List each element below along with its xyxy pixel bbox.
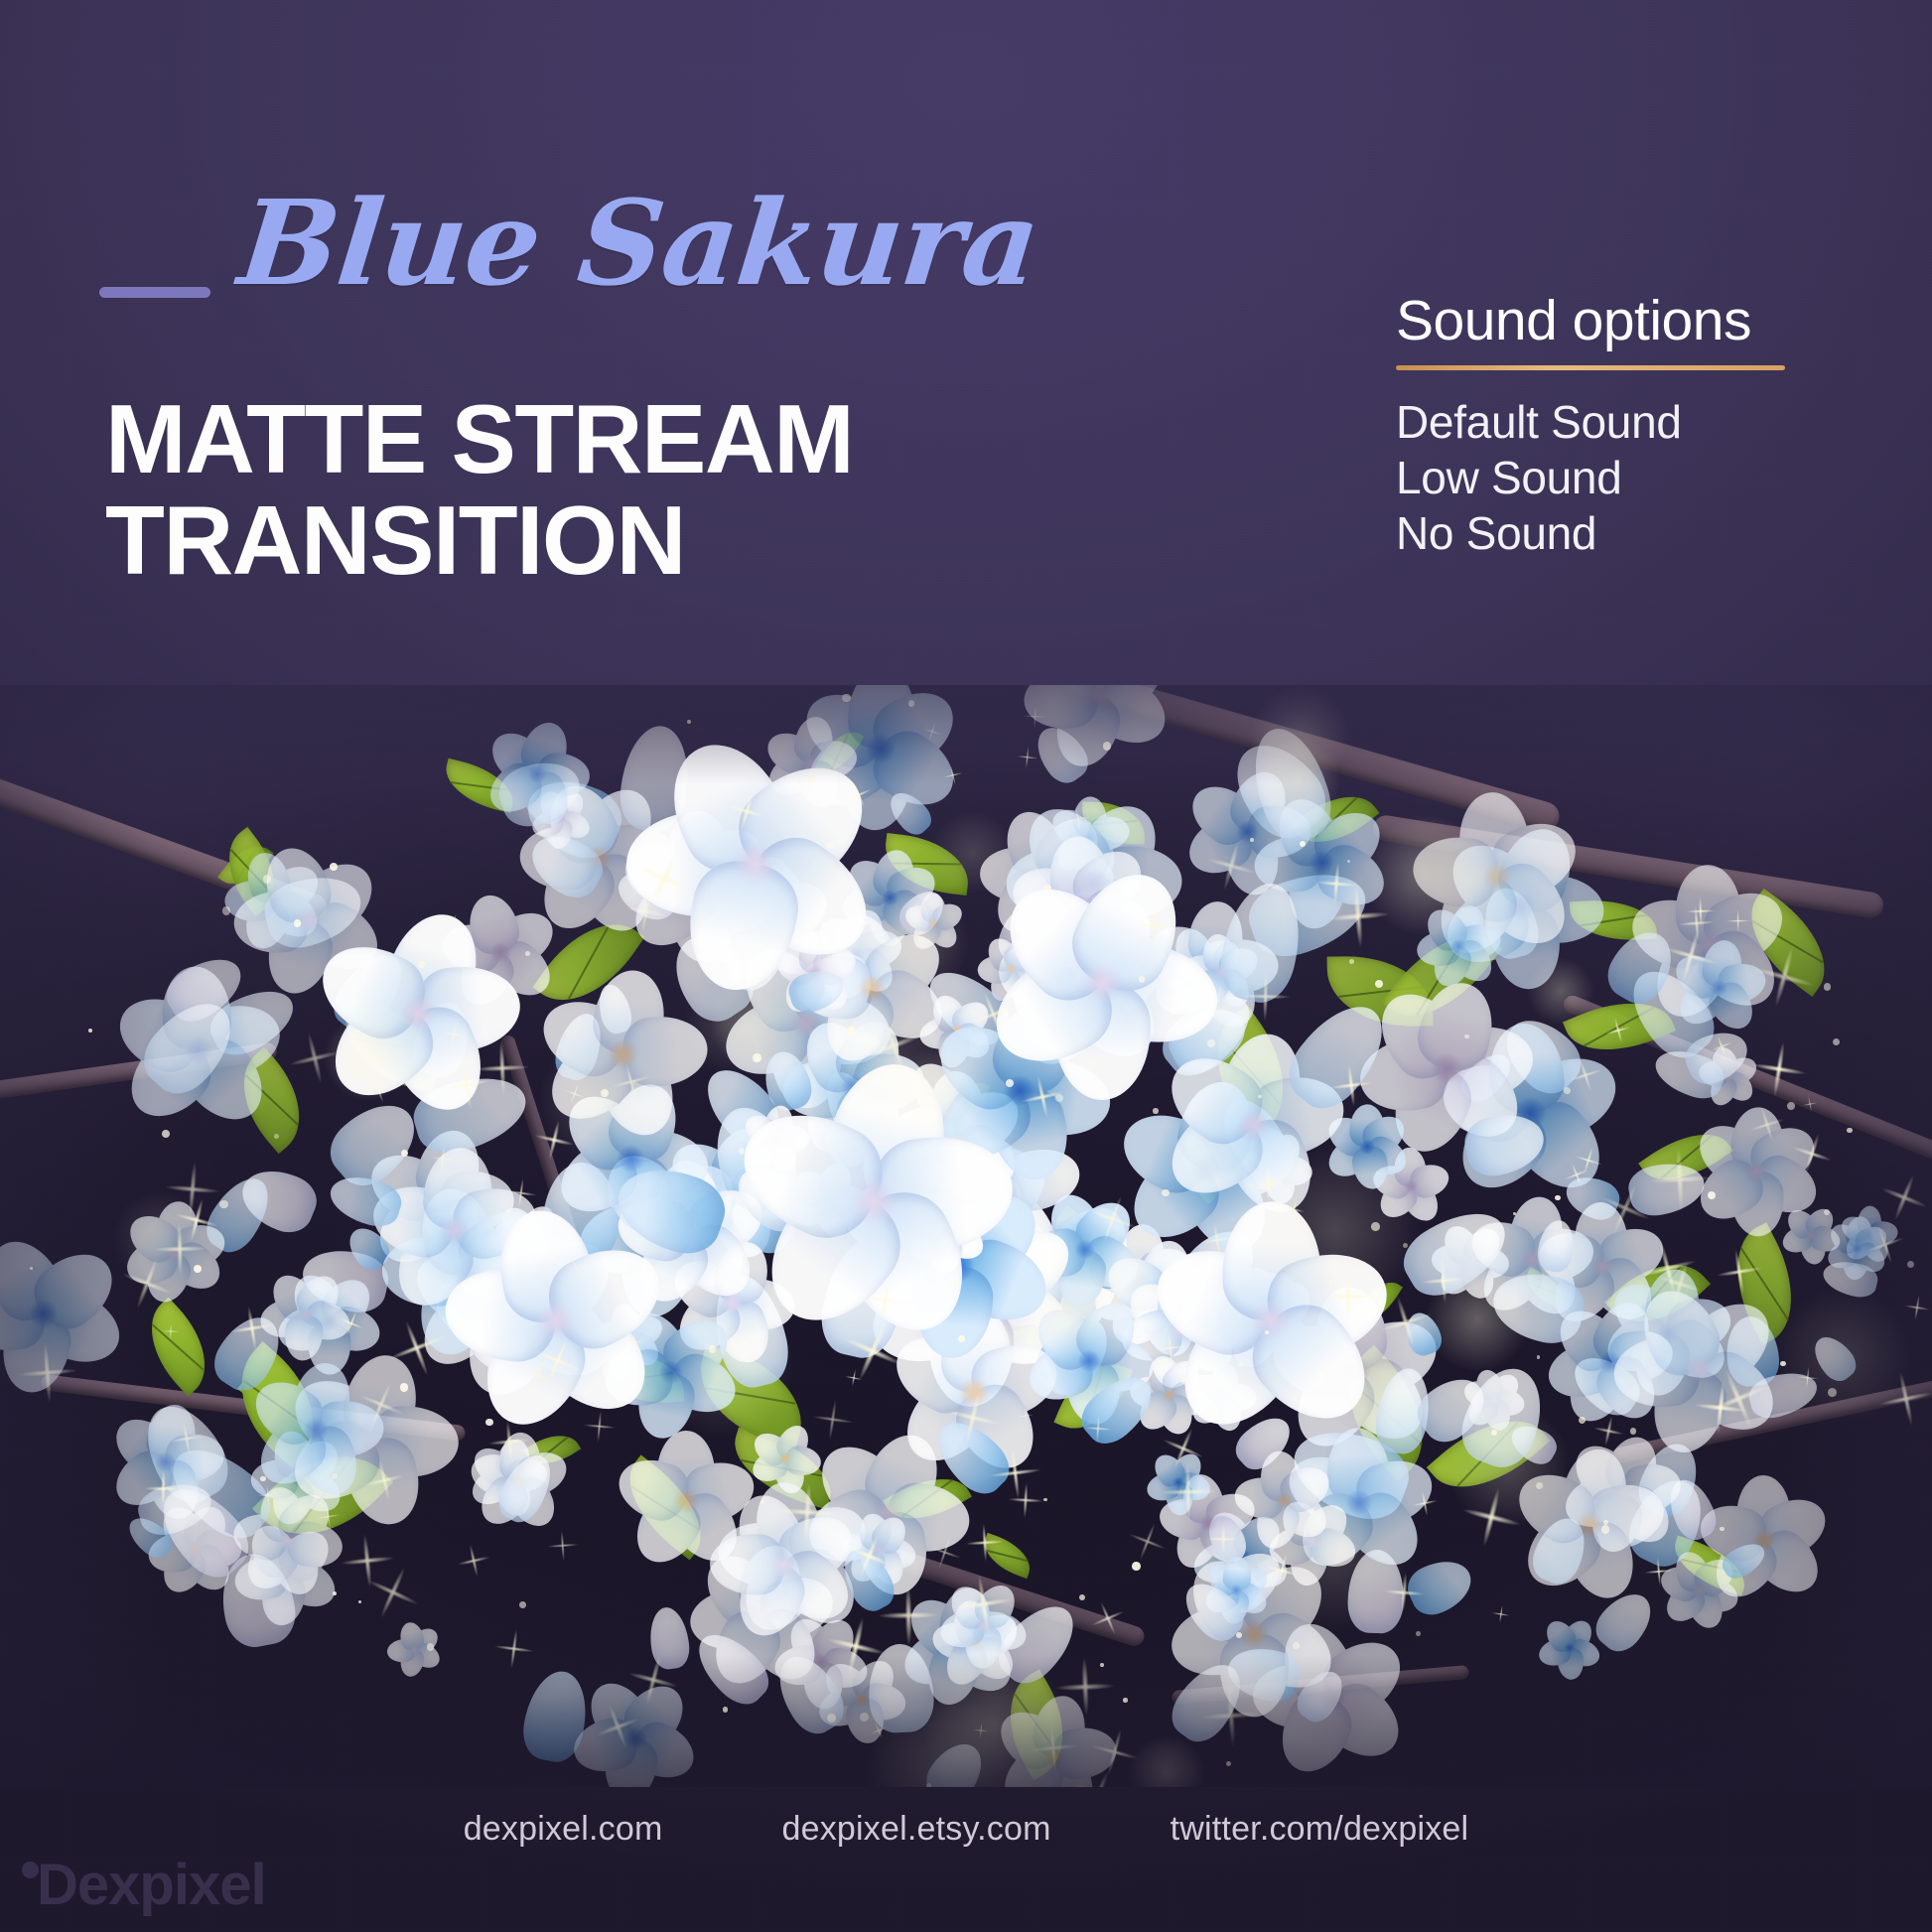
sparkle-icon [922, 1530, 967, 1575]
sparkle-icon [1801, 1095, 1820, 1114]
dexpixel-watermark: Dexpixel [22, 1852, 266, 1918]
sparkle-icon [1121, 1515, 1174, 1569]
sound-option-none[interactable]: No Sound [1396, 505, 1785, 561]
sparkle-icon [1382, 1571, 1426, 1614]
sparkle-dot [1139, 976, 1146, 983]
sparkle-dot [1162, 1189, 1170, 1197]
sparkle-icon [1873, 1365, 1932, 1431]
sparkle-dot [827, 842, 834, 849]
sparkle-dot [1250, 838, 1255, 843]
sparkle-icon [868, 1719, 892, 1742]
sparkle-dot [908, 700, 914, 706]
sparkle-icon [1207, 1523, 1239, 1555]
sound-options-list: Default Sound Low Sound No Sound [1396, 394, 1785, 561]
sparkle-dot [926, 1783, 931, 1787]
sparkle-dot [958, 1335, 965, 1342]
sparkle-dot [960, 1192, 964, 1196]
sparkle-dot [1564, 1087, 1571, 1094]
sparkle-dot [1824, 983, 1832, 991]
sparkle-icon [940, 1384, 1008, 1451]
sparkle-icon [359, 1455, 409, 1505]
sparkle-glow [655, 1299, 794, 1438]
sparkle-layer [0, 685, 1932, 1787]
sparkle-dot [485, 1419, 493, 1427]
sparkle-glow [1431, 837, 1514, 920]
sparkle-icon [1026, 1722, 1079, 1775]
page-title-line-2: TRANSITION [105, 490, 853, 592]
sparkle-icon [1725, 908, 1751, 934]
sparkle-icon [161, 1322, 180, 1341]
sparkle-dot [1349, 959, 1354, 964]
sparkle-dot [1833, 1038, 1840, 1045]
sparkle-icon [1747, 1037, 1811, 1101]
script-title-row: Blue Sakura [99, 184, 1037, 303]
sparkle-dot [687, 720, 691, 724]
sound-options-heading: Sound options [1396, 292, 1785, 351]
sparkle-icon [1084, 1595, 1131, 1642]
sparkle-icon [964, 1522, 1006, 1564]
sparkle-icon [1744, 938, 1822, 1016]
watermark-label: Dexpixel [37, 1852, 266, 1918]
sparkle-icon [334, 1305, 369, 1340]
sparkle-icon [1200, 835, 1262, 897]
sparkle-dot [1371, 1222, 1379, 1230]
page-title: MATTE STREAM TRANSITION [105, 389, 853, 592]
sparkle-glow [682, 977, 778, 1073]
sound-options-panel: Sound options Default Sound Low Sound No… [1396, 292, 1785, 561]
sparkle-dot [1153, 1108, 1158, 1113]
sparkle-icon [1643, 1555, 1676, 1587]
sparkle-icon [530, 1116, 579, 1165]
sparkle-dot [601, 1089, 609, 1097]
sparkle-dot [1555, 1195, 1561, 1201]
sparkle-dot [222, 906, 231, 915]
sparkle-icon [581, 1408, 617, 1444]
sparkle-dot [1464, 1035, 1468, 1038]
sparkle-icon [1023, 703, 1048, 729]
sparkle-icon [503, 1175, 539, 1211]
sparkle-icon [1454, 1481, 1527, 1554]
sound-options-divider [1396, 365, 1785, 370]
sparkle-icon [939, 761, 965, 787]
sparkle-icon [486, 1419, 533, 1465]
sparkle-dot [1347, 860, 1350, 863]
footer-link-etsy[interactable]: dexpixel.etsy.com [782, 1810, 1051, 1849]
sparkle-dot [1123, 1698, 1128, 1703]
sparkle-dot [1536, 1482, 1543, 1489]
sparkle-dot [1055, 1094, 1063, 1102]
sparkle-icon [1134, 905, 1174, 946]
sparkle-dot [1181, 1377, 1188, 1384]
sparkle-icon [948, 1570, 1018, 1639]
sparkle-icon [1250, 1166, 1288, 1203]
sparkle-icon [1743, 1101, 1790, 1148]
sparkle-glow [864, 891, 969, 996]
sparkle-icon [1714, 1246, 1766, 1299]
sparkle-dot [332, 1473, 338, 1479]
sparkle-icon [315, 1502, 344, 1531]
sparkle-dot [330, 863, 338, 871]
sparkle-icon [809, 1397, 856, 1444]
sparkle-icon [1692, 1378, 1751, 1438]
sparkle-icon [453, 1541, 492, 1581]
sparkle-icon [437, 1018, 471, 1051]
sparkle-icon [15, 1339, 80, 1405]
sparkle-dot [1236, 1632, 1242, 1638]
sparkle-icon [1196, 1220, 1238, 1262]
sparkle-dot [162, 1130, 170, 1138]
sparkle-icon [563, 1254, 589, 1280]
sparkle-icon [1786, 1127, 1839, 1179]
sparkle-dot [860, 1713, 869, 1722]
sparkle-dot [1780, 1361, 1786, 1367]
sparkle-icon [1015, 1406, 1035, 1426]
sparkle-icon [961, 981, 1028, 1047]
sparkle-icon [442, 910, 464, 932]
sparkle-icon [429, 1145, 459, 1174]
sparkle-icon [392, 1251, 409, 1268]
sparkle-dot [753, 1053, 760, 1061]
sparkle-icon [1260, 1549, 1305, 1593]
sparkle-icon [722, 786, 771, 836]
sparkle-glow [1527, 957, 1594, 1025]
sparkle-icon [1062, 802, 1095, 835]
sparkle-icon [1054, 1656, 1117, 1719]
sparkle-dot [1847, 1128, 1852, 1133]
sparkle-dot [1579, 1417, 1586, 1424]
sparkle-icon [588, 1697, 648, 1757]
sparkle-dot [1300, 841, 1306, 847]
sparkle-icon [838, 1525, 898, 1586]
sparkle-icon [1015, 745, 1040, 770]
sparkle-dot [427, 1643, 435, 1651]
sparkle-dot [525, 951, 530, 956]
sparkle-dot [1537, 1355, 1541, 1359]
sparkle-dot [418, 961, 425, 968]
poster-canvas: Blue Sakura MATTE STREAM TRANSITION Soun… [0, 0, 1932, 1932]
sound-option-low[interactable]: Low Sound [1396, 450, 1785, 505]
sparkle-icon [820, 1610, 892, 1682]
sparkle-glow [1256, 737, 1341, 822]
sparkle-dot [760, 1500, 764, 1504]
sparkle-icon [1677, 903, 1717, 943]
sparkle-icon [1859, 1219, 1911, 1272]
sakura-artwork [0, 685, 1932, 1787]
sparkle-dot [274, 1134, 279, 1139]
sparkle-dot [260, 1476, 266, 1482]
sparkle-dot [1708, 1191, 1716, 1199]
sparkle-dot [88, 1029, 92, 1033]
sparkle-dot [1416, 1631, 1420, 1635]
sparkle-icon [560, 1078, 590, 1108]
sparkle-icon [1795, 1365, 1821, 1391]
sparkle-dot [806, 774, 815, 783]
sparkle-glow [930, 811, 1014, 895]
sparkle-icon [1871, 1165, 1932, 1229]
sparkle-glow [1026, 1281, 1104, 1359]
sparkle-dot [848, 1027, 856, 1035]
sparkle-dot [1103, 742, 1111, 750]
sparkle-icon [777, 1481, 839, 1543]
sparkle-dot [1043, 885, 1051, 893]
sparkle-dot [1207, 1039, 1215, 1047]
sparkle-icon [1325, 884, 1392, 950]
sparkle-dot [709, 1345, 716, 1352]
sparkle-dot [723, 1707, 729, 1713]
sparkle-icon [919, 719, 945, 745]
sparkle-dot [1601, 1525, 1610, 1534]
sparkle-dot [1787, 1102, 1795, 1110]
script-title: Blue Sakura [234, 184, 1044, 303]
sparkle-dot [1132, 1562, 1141, 1571]
sparkle-dot [1043, 1498, 1047, 1502]
sparkle-dot [1258, 1095, 1262, 1099]
sparkle-icon [605, 1055, 657, 1108]
sparkle-icon [437, 1055, 495, 1114]
sparkle-icon [1590, 1414, 1626, 1449]
sparkle-icon [971, 1721, 990, 1739]
sparkle-dot [1491, 1430, 1497, 1436]
sparkle-dot [1088, 1061, 1096, 1069]
sparkle-dot [1100, 1663, 1104, 1667]
sparkle-icon [1083, 1414, 1113, 1444]
sparkle-dot [1226, 1761, 1231, 1766]
sparkle-icon [226, 1302, 279, 1354]
page-title-line-1: MATTE STREAM [105, 389, 853, 490]
sparkle-dot [1907, 1261, 1914, 1268]
sparkle-dot [1328, 1281, 1332, 1285]
sparkle-icon [945, 1274, 966, 1295]
sparkle-dot [1403, 1243, 1408, 1248]
sparkle-dot [842, 694, 850, 702]
sparkle-dot [1828, 1388, 1837, 1397]
sparkle-dot [1293, 1642, 1300, 1649]
sparkle-icon [621, 1329, 645, 1353]
sparkle-dot [333, 1591, 337, 1595]
sparkle-dot [219, 1200, 228, 1209]
sparkle-icon [1319, 1268, 1376, 1324]
sparkle-icon [546, 1529, 580, 1563]
sparkle-dot [739, 1148, 745, 1154]
sparkle-icon [1706, 1032, 1736, 1062]
sparkle-icon [1081, 1187, 1145, 1251]
sparkle-dot [1603, 1520, 1608, 1525]
sparkle-dot [1079, 1594, 1085, 1600]
sparkle-dot [1006, 1079, 1014, 1087]
sparkle-icon [855, 1008, 931, 1084]
sparkle-icon [1902, 1293, 1931, 1321]
sparkle-dot [401, 1150, 408, 1157]
sparkle-dot [1513, 1212, 1516, 1215]
sparkle-glow [1250, 686, 1350, 786]
sparkle-dot [194, 1265, 202, 1273]
sparkle-icon [1154, 1331, 1188, 1366]
sparkle-glow [865, 1695, 1025, 1787]
sparkle-icon [145, 1470, 182, 1507]
sparkle-dot [1108, 1070, 1114, 1076]
sparkle-dot [1630, 1428, 1637, 1435]
sparkle-icon [1008, 1481, 1045, 1519]
sparkle-icon [839, 776, 878, 815]
footer-links: dexpixel.com dexpixel.etsy.com twitter.c… [0, 1810, 1932, 1849]
sparkle-icon [1328, 1061, 1375, 1108]
sparkle-glow [710, 969, 814, 1073]
sparkle-dot [827, 1714, 836, 1723]
sparkle-icon [256, 1483, 279, 1506]
footer-link-website[interactable]: dexpixel.com [464, 1810, 663, 1849]
sparkle-icon [621, 886, 671, 936]
sparkle-icon [1601, 1014, 1635, 1047]
sparkle-icon [338, 1531, 397, 1590]
sparkle-icon [378, 1310, 455, 1386]
sparkle-icon [1240, 970, 1293, 1023]
sparkle-icon [894, 1782, 941, 1787]
sparkle-icon [1198, 1683, 1264, 1748]
sparkle-icon [167, 1420, 207, 1459]
sparkle-icon [1409, 1487, 1441, 1519]
sparkle-icon [282, 1027, 346, 1091]
sparkle-dot [30, 1267, 33, 1270]
sparkle-icon [1490, 1602, 1512, 1624]
sparkle-icon [491, 1625, 537, 1671]
sound-option-default[interactable]: Default Sound [1396, 394, 1785, 450]
sparkle-dot [1265, 1330, 1269, 1334]
sparkle-dot [1238, 1362, 1243, 1367]
sparkle-dot [1720, 1527, 1725, 1532]
sparkle-dot [1824, 1209, 1830, 1215]
sparkle-dot [1375, 980, 1383, 988]
sparkle-dot [294, 919, 302, 927]
accent-dash [99, 287, 210, 298]
sparkle-icon [1281, 1196, 1308, 1223]
sparkle-dot [263, 875, 271, 883]
sparkle-dot [519, 1601, 526, 1608]
footer-link-twitter[interactable]: twitter.com/dexpixel [1171, 1810, 1469, 1849]
